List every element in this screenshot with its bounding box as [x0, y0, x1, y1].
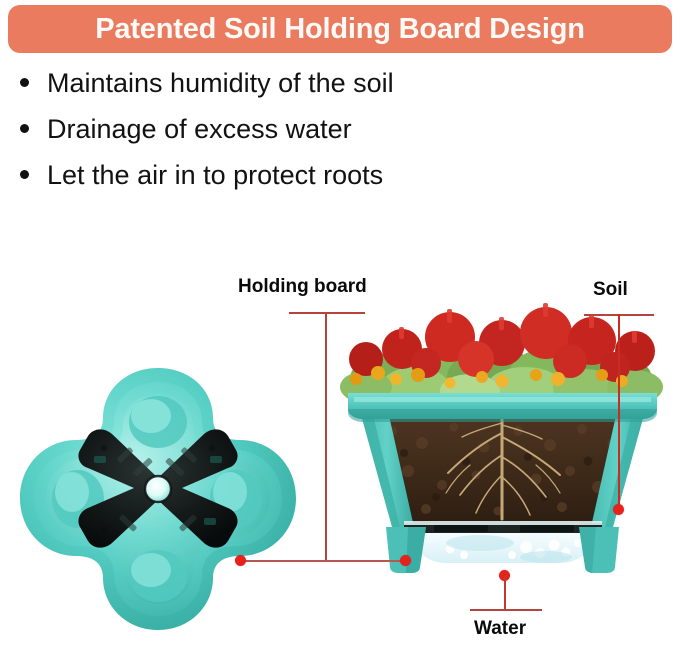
- planter-lobe-highlight: [55, 472, 89, 512]
- marker-dot-holding-board-right: [400, 555, 411, 566]
- marker-dot-soil: [613, 504, 624, 515]
- leader-tbar-holding-board: [289, 312, 365, 314]
- planter-rim-highlight: [354, 397, 651, 402]
- holding-board-strip-top: [404, 521, 602, 525]
- leader-tbar-water: [470, 609, 542, 611]
- header-banner: Patented Soil Holding Board Design: [8, 5, 672, 53]
- holding-board-slot: [520, 525, 574, 532]
- product-diagram: Holding board Soil Water: [0, 255, 679, 646]
- feature-text: Drainage of excess water: [47, 116, 352, 143]
- leader-line-holding-board-horizontal: [240, 560, 408, 562]
- planter-rim-shadow: [348, 409, 657, 422]
- planter-lobe-highlight: [131, 399, 171, 433]
- callout-label-soil: Soil: [593, 280, 628, 299]
- holding-board-slot: [434, 525, 488, 532]
- list-item: Maintains humidity of the soil: [20, 70, 660, 116]
- feature-text: Maintains humidity of the soil: [47, 70, 394, 97]
- infographic-canvas: Patented Soil Holding Board Design Maint…: [0, 0, 679, 646]
- planter-top-view-image: [8, 360, 308, 640]
- planter-lobe-highlight: [131, 553, 171, 587]
- page-title: Patented Soil Holding Board Design: [95, 15, 584, 44]
- feature-list: Maintains humidity of the soil Drainage …: [20, 70, 660, 208]
- list-item: Let the air in to protect roots: [20, 162, 660, 208]
- callout-label-water: Water: [474, 619, 526, 638]
- bullet-icon: [20, 124, 29, 133]
- bullet-icon: [20, 170, 29, 179]
- leader-line-soil: [618, 314, 620, 510]
- bullet-icon: [20, 78, 29, 87]
- leader-line-water: [504, 575, 506, 611]
- leader-line-holding-board: [325, 312, 327, 560]
- list-item: Drainage of excess water: [20, 116, 660, 162]
- feature-text: Let the air in to protect roots: [47, 162, 383, 189]
- marker-dot-holding-board-left: [235, 555, 246, 566]
- callout-label-holding-board: Holding board: [238, 277, 367, 296]
